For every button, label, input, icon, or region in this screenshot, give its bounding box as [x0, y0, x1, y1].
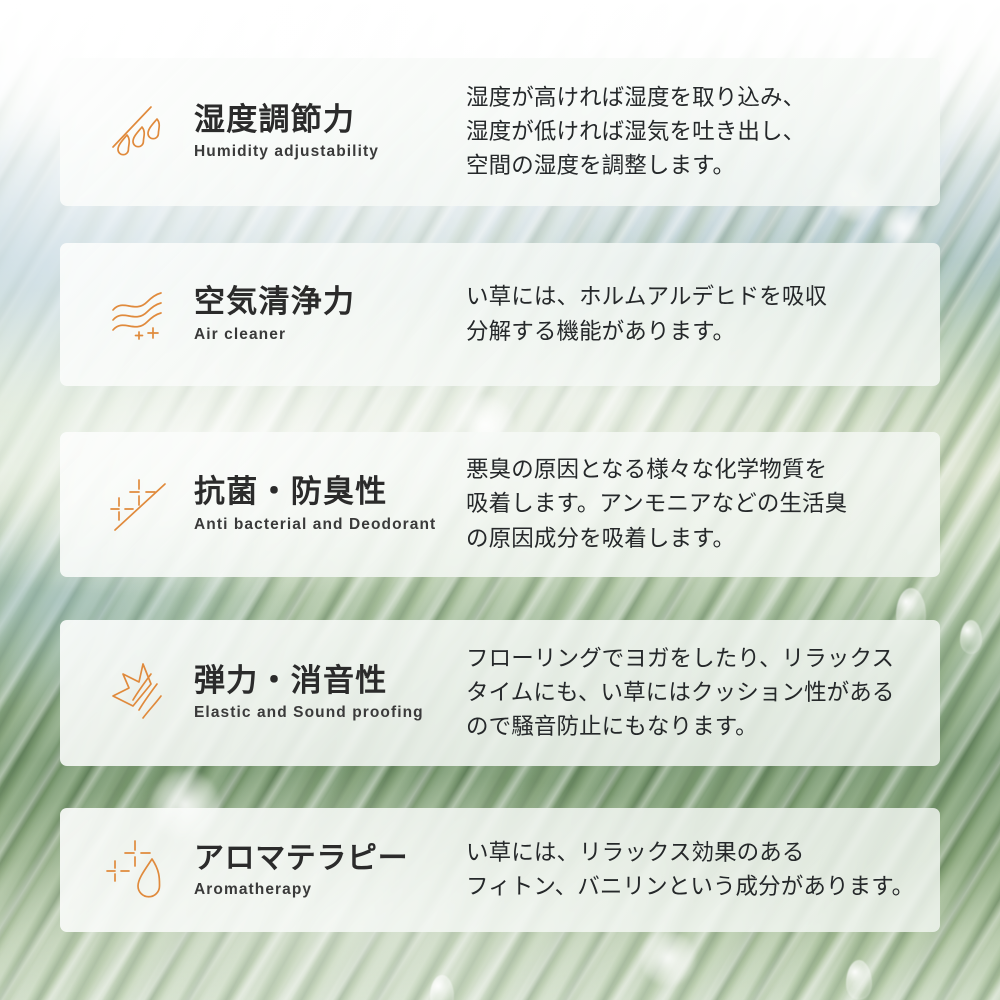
feature-card-anti-bacterial[interactable]: 抗菌・防臭性 Anti bacterial and Deodorant 悪臭の原… [60, 432, 940, 577]
feature-title-ja: 湿度調節力 [194, 102, 379, 139]
feature-titles: 弾力・消音性 Elastic and Sound proofing [188, 663, 424, 723]
feature-card-elastic-soundproof[interactable]: 弾力・消音性 Elastic and Sound proofing フローリング… [60, 620, 940, 766]
feature-card-heading: 抗菌・防臭性 Anti bacterial and Deodorant [60, 432, 460, 577]
bounce-arrow-icon [96, 658, 188, 728]
feature-card-heading: 空気清浄力 Air cleaner [60, 243, 460, 386]
feature-card-humidity[interactable]: 湿度調節力 Humidity adjustability 湿度が高ければ湿度を取… [60, 58, 940, 206]
feature-titles: アロマテラピー Aromatherapy [188, 841, 408, 900]
feature-card-heading: 湿度調節力 Humidity adjustability [60, 58, 460, 206]
feature-titles: 空気清浄力 Air cleaner [188, 284, 355, 344]
humidity-droplets-icon [96, 99, 188, 165]
feature-title-en: Air cleaner [194, 326, 355, 345]
feature-title-en: Elastic and Sound proofing [194, 704, 424, 723]
description-line: い草には、リラックス効果のある [466, 836, 918, 870]
description-line: 空間の湿度を調整します。 [466, 149, 918, 183]
feature-card-list: 湿度調節力 Humidity adjustability 湿度が高ければ湿度を取… [0, 0, 1000, 1000]
feature-title-en: Anti bacterial and Deodorant [194, 516, 436, 535]
feature-card-heading: 弾力・消音性 Elastic and Sound proofing [60, 620, 460, 766]
feature-titles: 湿度調節力 Humidity adjustability [188, 102, 379, 162]
feature-title-en: Aromatherapy [194, 881, 408, 900]
description-line: フローリングでヨガをしたり、リラックス [466, 642, 918, 676]
description-line: 湿度が高ければ湿度を取り込み、 [466, 81, 918, 115]
description-line: の原因成分を吸着します。 [466, 522, 918, 556]
description-line: ので騒音防止にもなります。 [466, 710, 918, 744]
sparkle-slash-icon [96, 472, 188, 538]
description-line: 悪臭の原因となる様々な化学物質を [466, 453, 918, 487]
feature-title-ja: 空気清浄力 [194, 284, 355, 321]
description-line: 吸着します。アンモニアなどの生活臭 [466, 487, 918, 521]
feature-description: フローリングでヨガをしたり、リラックス タイムにも、い草にはクッション性がある … [460, 642, 940, 745]
sparkle-droplet-icon [96, 837, 188, 903]
feature-infographic-page: 湿度調節力 Humidity adjustability 湿度が高ければ湿度を取… [0, 0, 1000, 1000]
feature-title-en: Humidity adjustability [194, 143, 379, 162]
description-line: 湿度が低ければ湿気を吐き出し、 [466, 115, 918, 149]
feature-title-ja: アロマテラピー [194, 841, 408, 876]
description-line: い草には、ホルムアルデヒドを吸収 [466, 280, 918, 314]
feature-card-aromatherapy[interactable]: アロマテラピー Aromatherapy い草には、リラックス効果のある フィト… [60, 808, 940, 932]
feature-card-heading: アロマテラピー Aromatherapy [60, 808, 460, 932]
feature-description: い草には、ホルムアルデヒドを吸収 分解する機能があります。 [460, 280, 940, 348]
feature-description: い草には、リラックス効果のある フィトン、バニリンという成分があります。 [460, 836, 940, 904]
description-line: 分解する機能があります。 [466, 315, 918, 349]
feature-card-air-cleaner[interactable]: 空気清浄力 Air cleaner い草には、ホルムアルデヒドを吸収 分解する機… [60, 243, 940, 386]
air-waves-icon [96, 282, 188, 348]
feature-title-ja: 弾力・消音性 [194, 663, 424, 700]
description-line: タイムにも、い草にはクッション性がある [466, 676, 918, 710]
feature-title-ja: 抗菌・防臭性 [194, 474, 436, 511]
feature-description: 湿度が高ければ湿度を取り込み、 湿度が低ければ湿気を吐き出し、 空間の湿度を調整… [460, 81, 940, 184]
feature-description: 悪臭の原因となる様々な化学物質を 吸着します。アンモニアなどの生活臭 の原因成分… [460, 453, 940, 556]
description-line: フィトン、バニリンという成分があります。 [466, 870, 918, 904]
feature-titles: 抗菌・防臭性 Anti bacterial and Deodorant [188, 474, 436, 534]
